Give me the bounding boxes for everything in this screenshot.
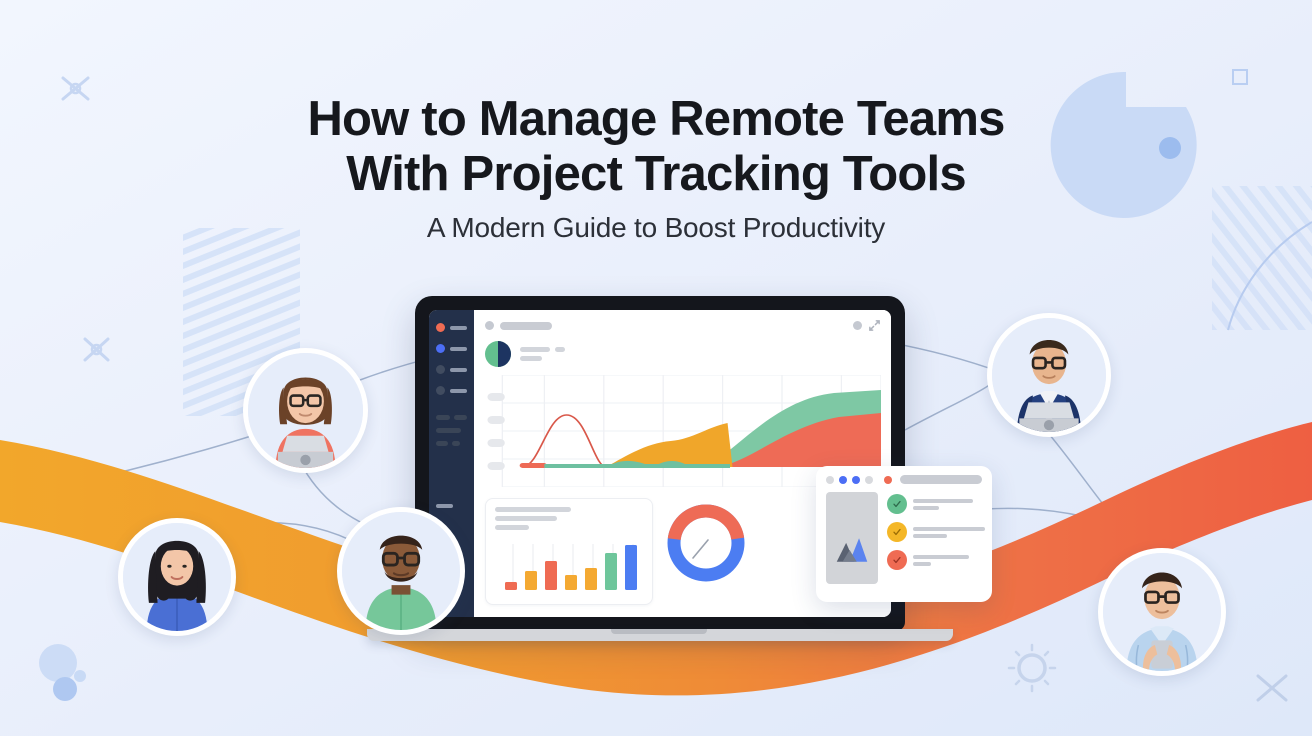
sidebar-block-b (454, 415, 467, 420)
task-line-2a (913, 527, 985, 531)
donut-needle (693, 540, 708, 558)
kpi-line-badge (555, 347, 565, 352)
avatar-man-navy-suit-laptop[interactable] (987, 313, 1111, 437)
mountain-image-placeholder (826, 492, 878, 584)
kpi-line-secondary (520, 356, 542, 361)
task-complete[interactable] (887, 494, 985, 514)
bar-chart-card (485, 498, 653, 605)
sidebar-dot-third (436, 365, 445, 374)
sidebar-label-blue (450, 347, 467, 351)
sidebar-block-f (436, 504, 453, 508)
float-dot-2 (839, 476, 847, 484)
area-baseline-teal (544, 464, 730, 468)
topbar-avatar-dot[interactable] (485, 321, 494, 330)
topbar-action-dot[interactable] (853, 321, 862, 330)
dashboard-topbar (485, 319, 881, 332)
kpi-line-primary (520, 347, 550, 352)
kpi-summary (485, 341, 881, 367)
sidebar-dot-blue (436, 344, 445, 353)
float-card-header (826, 475, 982, 484)
bar-3 (545, 561, 557, 590)
avatar-man-green-shirt[interactable] (337, 507, 465, 635)
bar-chart (495, 536, 643, 592)
task-line-1a (913, 499, 973, 503)
laptop-base-notch (611, 629, 707, 634)
task-in-progress[interactable] (887, 522, 985, 542)
sidebar-label-third (450, 368, 467, 372)
bar-2 (525, 571, 537, 590)
float-card-task-list (887, 492, 985, 584)
area-baseline-red (520, 463, 547, 468)
bar-card-title-line-1 (495, 507, 571, 512)
avatar-woman-blue-blouse[interactable] (118, 518, 236, 636)
sidebar-block-d (436, 441, 448, 446)
kpi-pie-icon (485, 341, 511, 367)
task-line-3b (913, 562, 931, 566)
bar-1 (505, 582, 517, 590)
sidebar-dot-fourth (436, 386, 445, 395)
float-dot-4 (865, 476, 873, 484)
task-badge-red (887, 550, 907, 570)
float-card-title-pill (900, 475, 982, 484)
float-dot-3 (852, 476, 860, 484)
hero-banner: How to Manage Remote Teams With Project … (0, 0, 1312, 736)
check-icon (892, 527, 902, 537)
sidebar-label-red (450, 326, 467, 330)
task-badge-yellow (887, 522, 907, 542)
sidebar-item-fourth[interactable] (436, 386, 467, 395)
float-card-body (826, 492, 982, 584)
check-icon (892, 555, 902, 565)
task-line-2b (913, 534, 947, 538)
donut-chart (663, 500, 749, 586)
sidebar-label-fourth (450, 389, 467, 393)
check-icon (892, 499, 902, 509)
task-badge-green (887, 494, 907, 514)
bar-6 (605, 553, 617, 590)
sidebar-dot-red (436, 323, 445, 332)
sidebar-item-red[interactable] (436, 323, 467, 332)
sidebar-block-c (436, 428, 461, 433)
sidebar-block-e (452, 441, 460, 446)
float-dot-5 (884, 476, 892, 484)
avatar-man-blue-shirt-phone[interactable] (1098, 548, 1226, 676)
float-dot-1 (826, 476, 834, 484)
bar-4 (565, 575, 577, 590)
sidebar-block-a (436, 415, 450, 420)
floating-task-card[interactable] (816, 466, 992, 602)
task-line-3a (913, 555, 969, 559)
bar-5 (585, 568, 597, 590)
sidebar-item-third[interactable] (436, 365, 467, 374)
bar-card-title-line-3 (495, 525, 529, 530)
avatar-woman-glasses-laptop[interactable] (243, 348, 368, 473)
topbar-title-pill (500, 322, 552, 330)
expand-arrows-icon[interactable] (868, 319, 881, 332)
bar-card-title-line-2 (495, 516, 557, 521)
bar-7 (625, 545, 637, 590)
sidebar-item-blue[interactable] (436, 344, 467, 353)
task-blocked[interactable] (887, 550, 985, 570)
task-line-1b (913, 506, 939, 510)
